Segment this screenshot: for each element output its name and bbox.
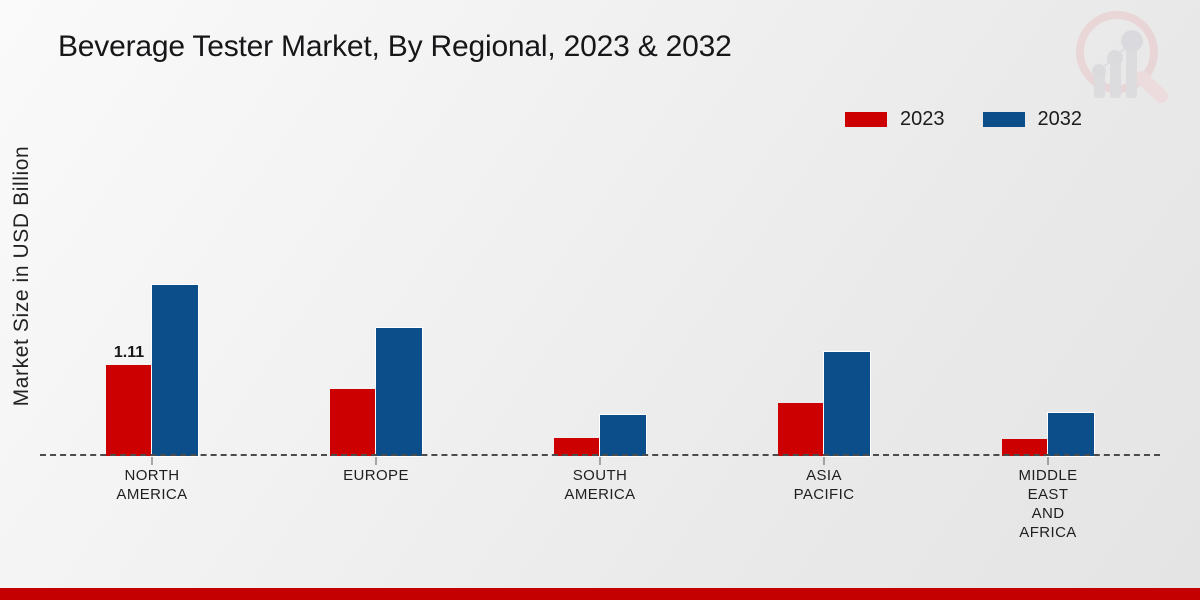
category-label-line: AMERICA bbox=[488, 485, 712, 504]
legend-swatch-2023 bbox=[845, 112, 887, 127]
category-label-line: EAST bbox=[936, 485, 1160, 504]
bar-2023-north-america[interactable]: 1.11 bbox=[106, 365, 152, 456]
category-label-line: MIDDLE bbox=[936, 466, 1160, 485]
x-axis-category-labels: NORTH AMERICA EUROPE SOUTH AMERICA ASIA … bbox=[40, 466, 1160, 542]
market-research-magnifier-logo bbox=[1062, 4, 1182, 104]
bar-group-north-america: 1.11 bbox=[40, 150, 264, 456]
category-label-line: AND bbox=[936, 504, 1160, 523]
bar-group-south-america bbox=[488, 150, 712, 456]
axis-tick bbox=[152, 457, 153, 465]
axis-tick bbox=[824, 457, 825, 465]
category-label-middle-east-and-africa: MIDDLE EAST AND AFRICA bbox=[936, 466, 1160, 542]
legend-swatch-2032 bbox=[983, 112, 1025, 127]
chart-title: Beverage Tester Market, By Regional, 202… bbox=[58, 30, 732, 64]
bottom-accent-stripe bbox=[0, 588, 1200, 600]
legend-item-2032[interactable]: 2032 bbox=[983, 108, 1083, 131]
axis-tick bbox=[1048, 457, 1049, 465]
bar-2023-asia-pacific[interactable] bbox=[778, 403, 824, 456]
bars bbox=[1002, 150, 1094, 456]
category-label-line: AFRICA bbox=[936, 523, 1160, 542]
x-axis-baseline bbox=[40, 454, 1160, 456]
axis-tick bbox=[376, 457, 377, 465]
bars bbox=[330, 150, 422, 456]
bar-2032-europe[interactable] bbox=[376, 328, 422, 456]
category-label-line: PACIFIC bbox=[712, 485, 936, 504]
bar-2032-middle-east-and-africa[interactable] bbox=[1048, 413, 1094, 456]
category-label-line: EUROPE bbox=[264, 466, 488, 485]
bars bbox=[778, 150, 870, 456]
bars: 1.11 bbox=[106, 150, 198, 456]
bar-2032-asia-pacific[interactable] bbox=[824, 352, 870, 456]
category-label-europe: EUROPE bbox=[264, 466, 488, 542]
bar-2023-europe[interactable] bbox=[330, 389, 376, 456]
bar-2032-south-america[interactable] bbox=[600, 415, 646, 456]
y-axis-title: Market Size in USD Billion bbox=[10, 86, 34, 466]
legend-label-2023: 2023 bbox=[900, 108, 945, 131]
legend-label-2032: 2032 bbox=[1038, 108, 1083, 131]
category-label-asia-pacific: ASIA PACIFIC bbox=[712, 466, 936, 542]
category-label-south-america: SOUTH AMERICA bbox=[488, 466, 712, 542]
category-label-line: AMERICA bbox=[40, 485, 264, 504]
category-label-line: ASIA bbox=[712, 466, 936, 485]
bar-value-2023-north-america: 1.11 bbox=[114, 344, 144, 362]
bar-2032-north-america[interactable] bbox=[152, 285, 198, 456]
bar-group-middle-east-and-africa bbox=[936, 150, 1160, 456]
category-label-line: NORTH bbox=[40, 466, 264, 485]
bar-groups: 1.11 bbox=[40, 150, 1160, 456]
bar-group-europe bbox=[264, 150, 488, 456]
category-label-line: SOUTH bbox=[488, 466, 712, 485]
bars bbox=[554, 150, 646, 456]
category-label-north-america: NORTH AMERICA bbox=[40, 466, 264, 542]
plot-area: 1.11 bbox=[40, 150, 1160, 456]
chart-legend: 2023 2032 bbox=[845, 108, 1082, 131]
axis-tick bbox=[600, 457, 601, 465]
bar-group-asia-pacific bbox=[712, 150, 936, 456]
legend-item-2023[interactable]: 2023 bbox=[845, 108, 945, 131]
